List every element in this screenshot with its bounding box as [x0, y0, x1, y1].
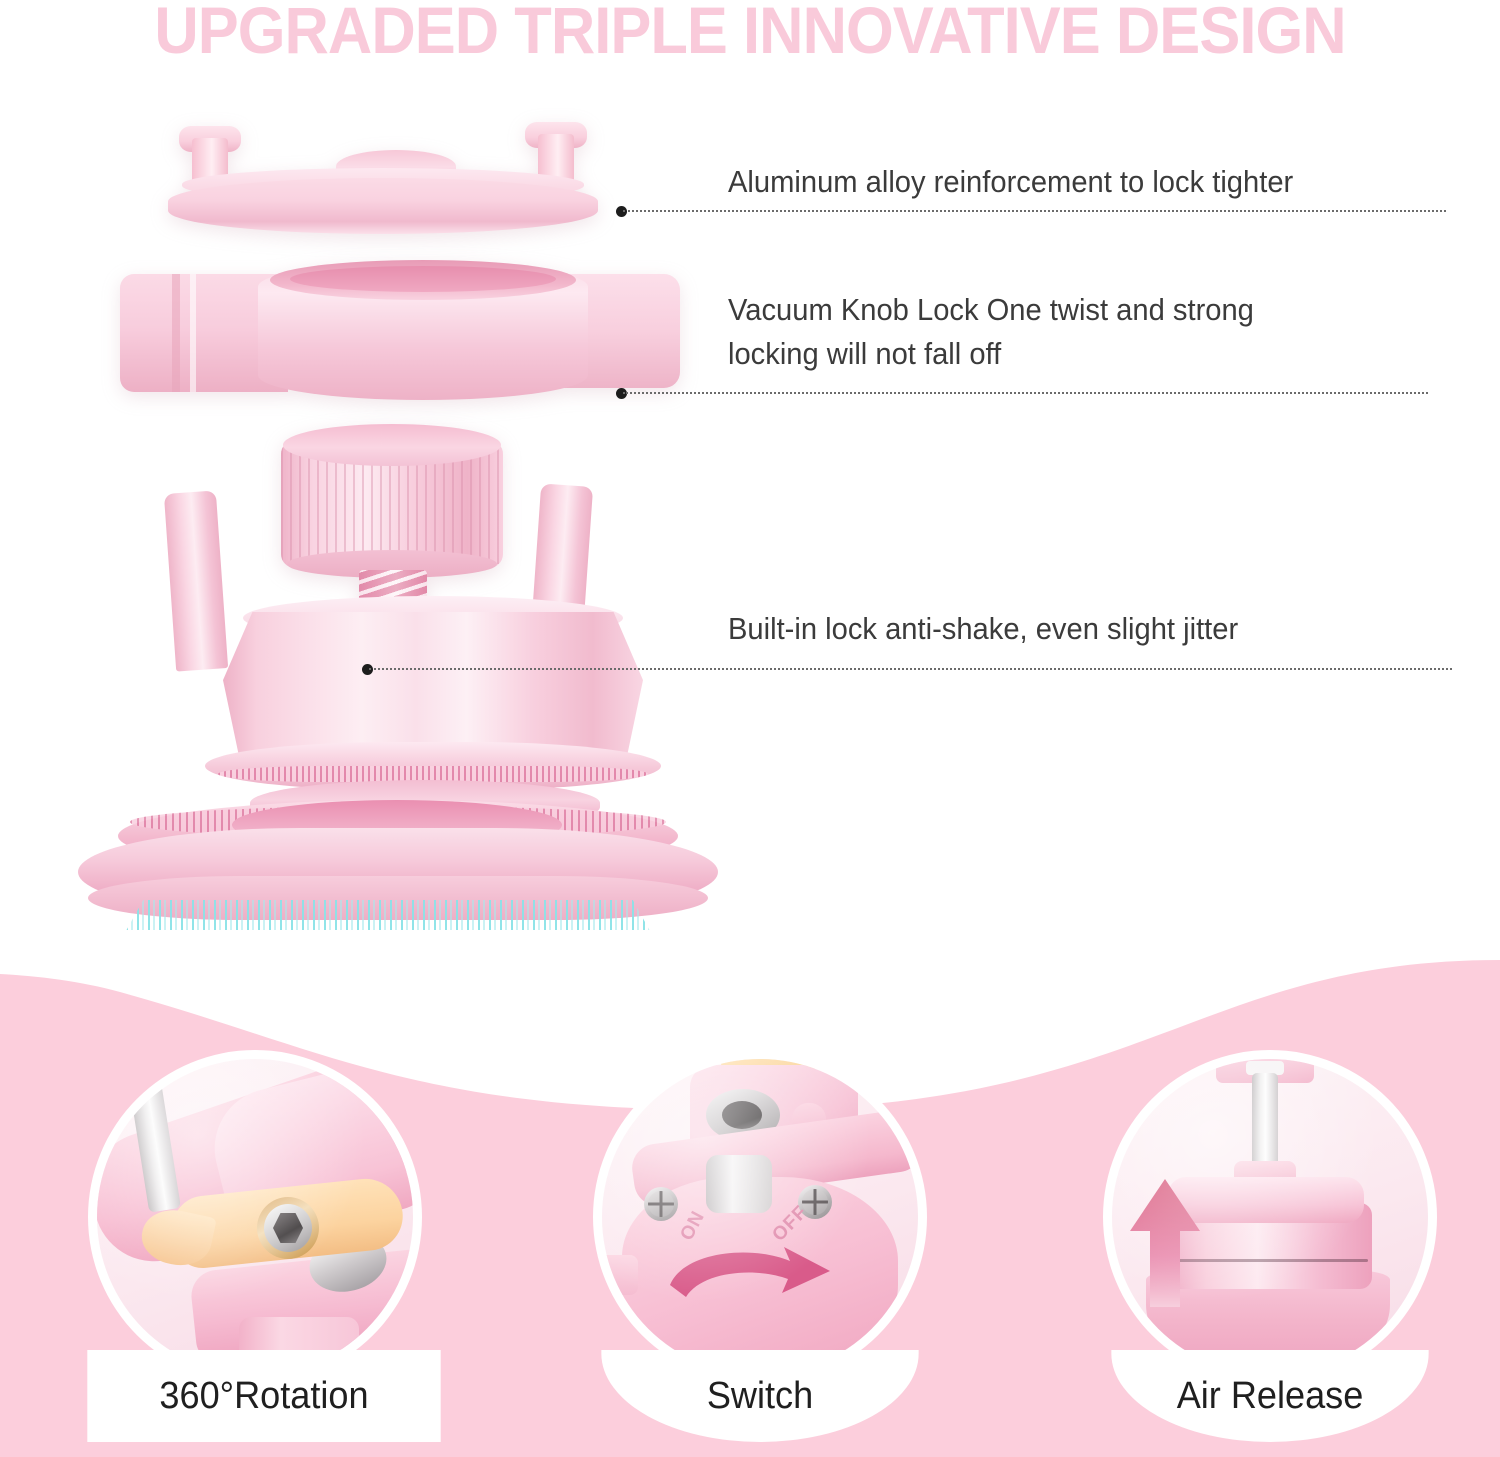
- air-release-metal-rod: [1252, 1073, 1278, 1173]
- body-post-left: [164, 490, 228, 671]
- switch-side-tab: [602, 1255, 638, 1295]
- feature-card-air-release[interactable]: Air Release: [1075, 1050, 1465, 1440]
- feature-photo-frame-switch: ON OFF: [593, 1050, 927, 1384]
- feature-photo-frame-rotation: [88, 1050, 422, 1384]
- feature-card-rotation[interactable]: 360°Rotation: [60, 1050, 450, 1440]
- feature-photo-frame-air-release: [1103, 1050, 1437, 1384]
- vacuum-knob-lock-part: [120, 262, 680, 404]
- bottom-features-panel: 360°Rotation ON OFF: [0, 930, 1500, 1457]
- feature-card-switch[interactable]: ON OFF Switch: [565, 1050, 955, 1440]
- leader-dash-line: [623, 210, 1446, 212]
- screw-icon-left: [644, 1187, 678, 1221]
- exploded-product-illustration: [0, 0, 720, 1010]
- main-body-dome: [223, 612, 643, 760]
- ribbed-knob-top: [283, 424, 501, 466]
- leader-dash-line: [369, 668, 1452, 670]
- feature-label-rotation: 360°Rotation: [87, 1350, 440, 1442]
- knob-inner-bore: [290, 266, 556, 292]
- leader-dash-line: [623, 392, 1428, 394]
- callout-builtin-lock-leader: [362, 668, 1452, 670]
- feature-photo-air-release: [1112, 1059, 1428, 1375]
- callout-aluminum-plate-leader: [616, 210, 1446, 212]
- feature-photo-rotation: [97, 1059, 413, 1375]
- callout-builtin-lock-text: Built-in lock anti-shake, even slight ji…: [728, 607, 1238, 651]
- switch-metal-cylinder: [706, 1155, 772, 1213]
- callout-vacuum-knob-text: Vacuum Knob Lock One twist and strong lo…: [728, 288, 1254, 376]
- feature-label-air-release: Air Release: [1111, 1350, 1428, 1442]
- feature-photo-switch: ON OFF: [602, 1059, 918, 1375]
- callout-vacuum-knob-line1: Vacuum Knob Lock One twist and strong: [728, 288, 1254, 332]
- switch-direction-arrow-icon: [664, 1245, 834, 1303]
- top-diagram-panel: UPGRADED TRIPLE INNOVATIVE DESIGN: [0, 0, 1500, 1010]
- callout-vacuum-knob-leader: [616, 392, 1428, 394]
- callout-vacuum-knob-line2: locking will not fall off: [728, 332, 1254, 376]
- callout-aluminum-plate-text: Aluminum alloy reinforcement to lock tig…: [728, 160, 1293, 204]
- aluminum-alloy-plate-part: [168, 120, 598, 230]
- feature-label-switch: Switch: [601, 1350, 918, 1442]
- plate-body: [168, 178, 598, 234]
- up-arrow-icon: [1128, 1177, 1202, 1309]
- ribbed-adjust-knob-part: [277, 424, 507, 624]
